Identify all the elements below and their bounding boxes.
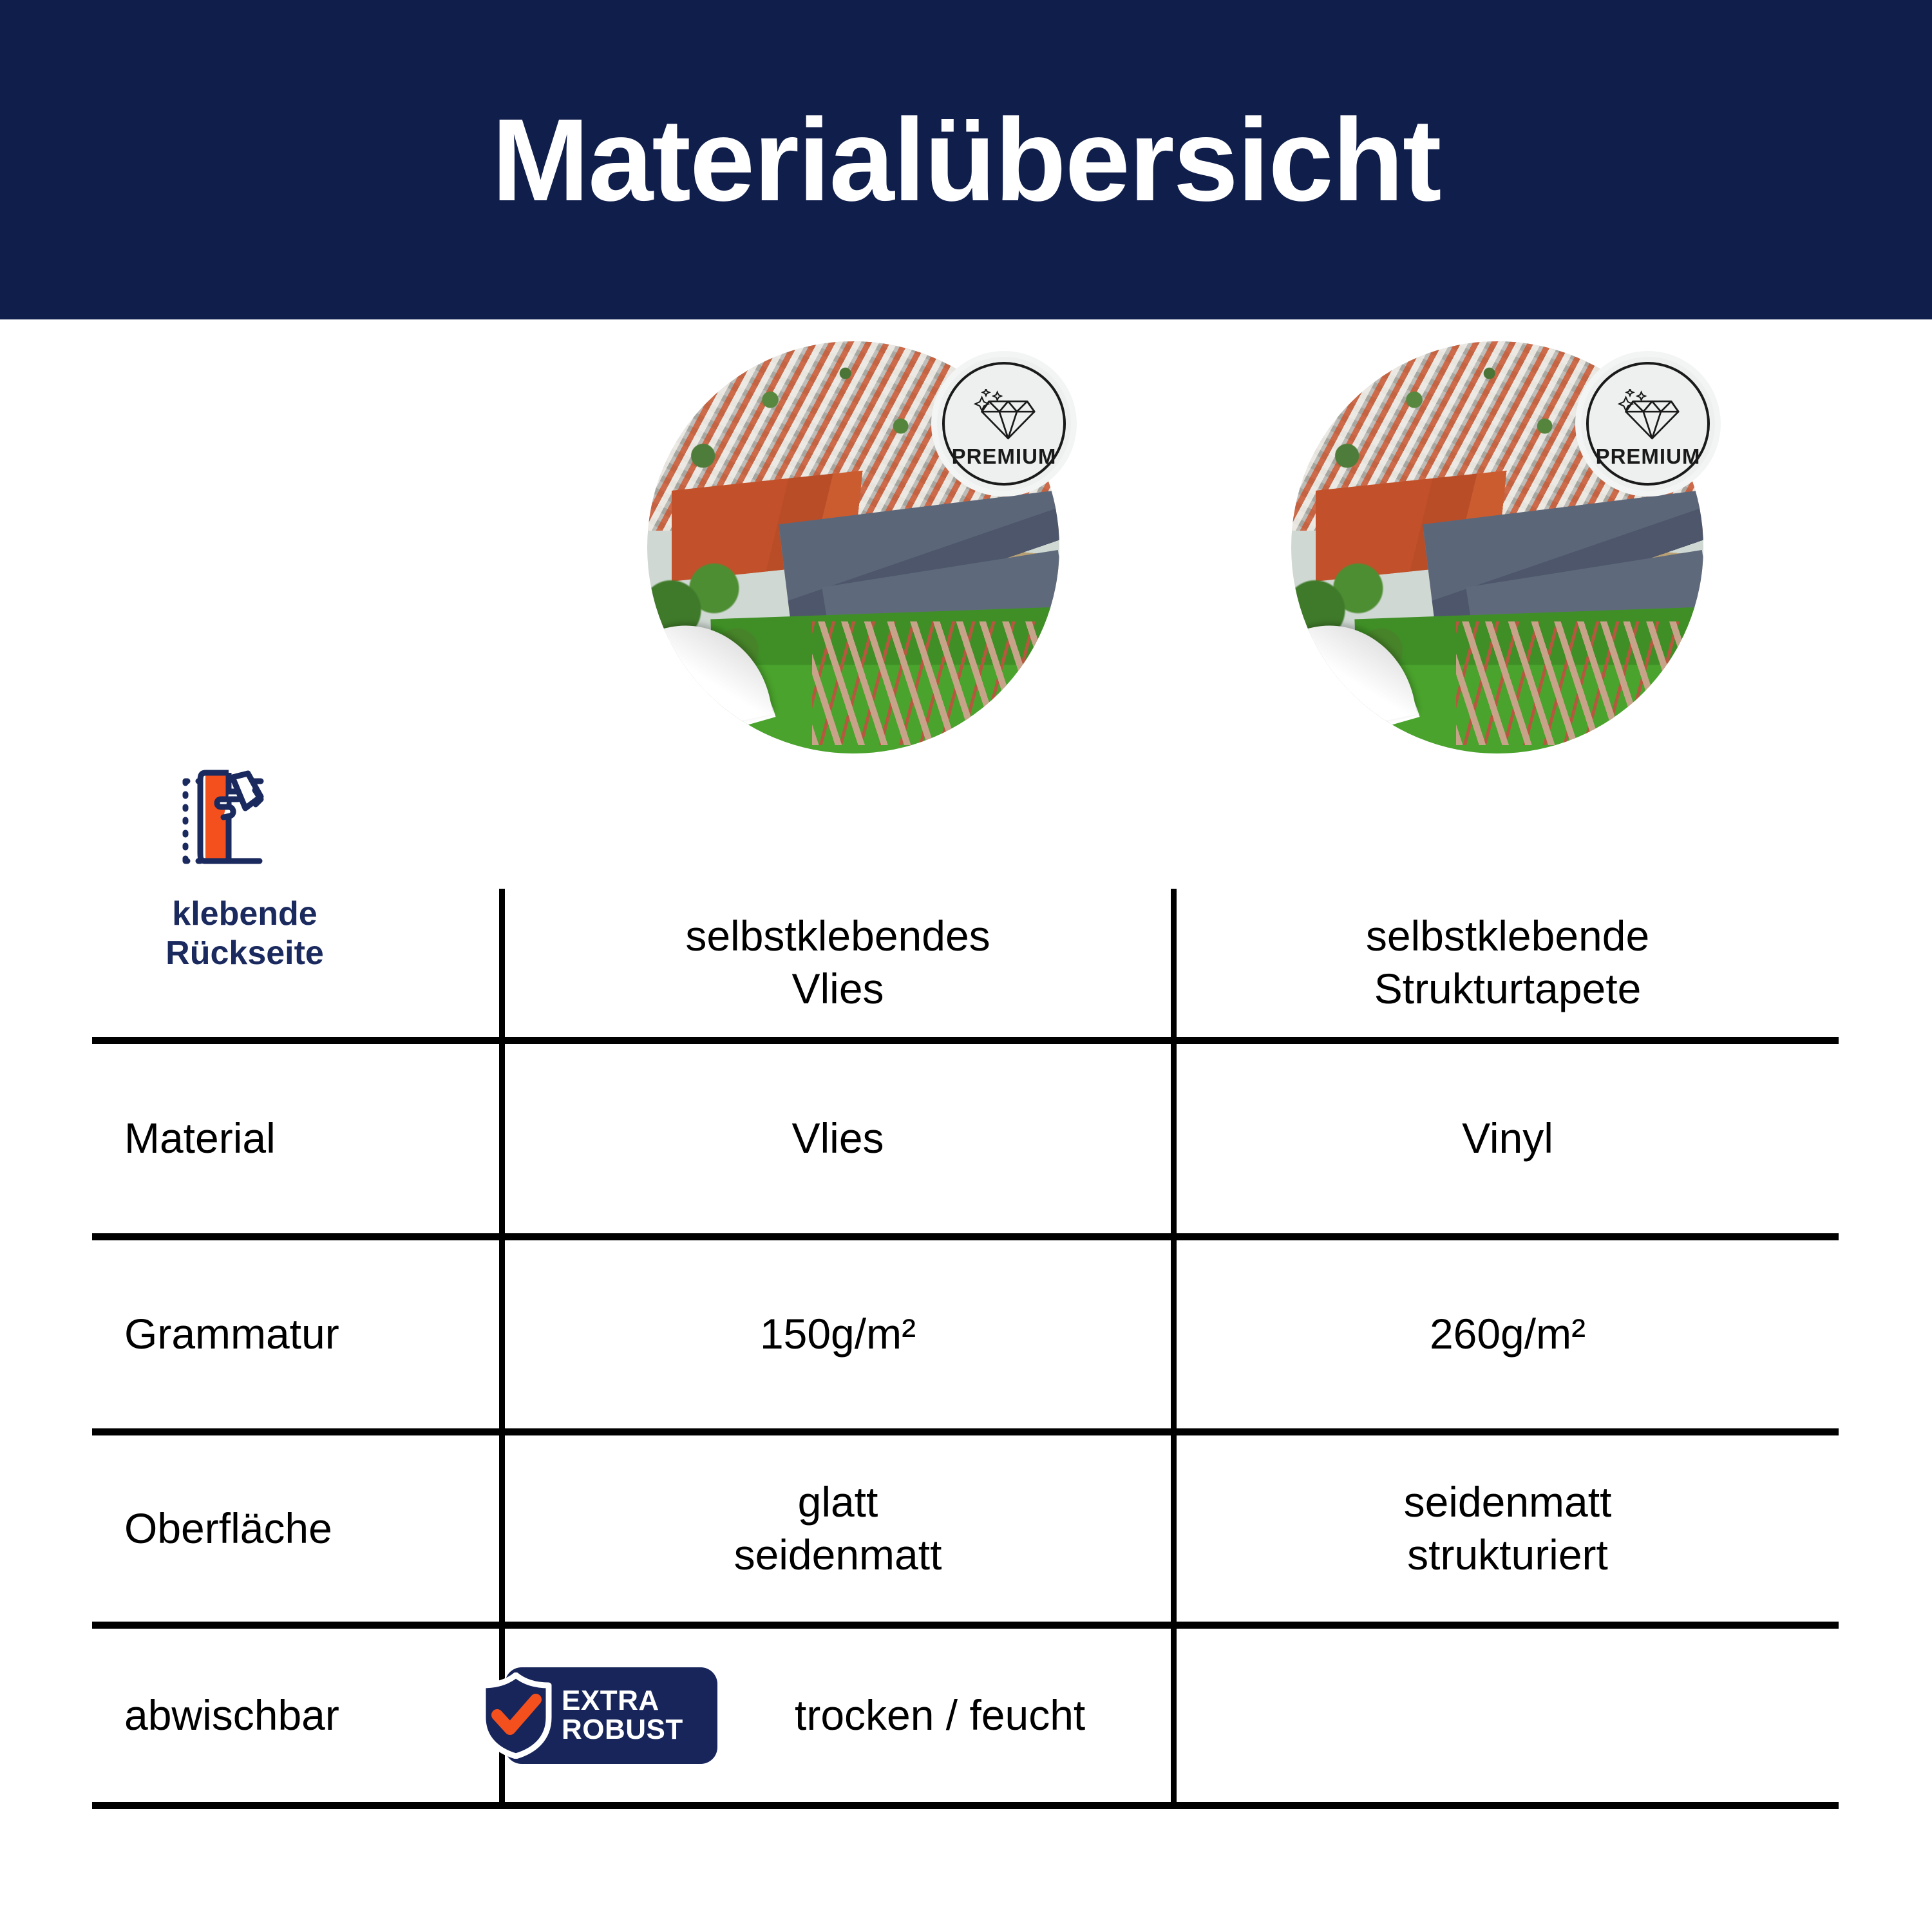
table-cell-oberflaeche-col2: seidenmatt strukturiert bbox=[1177, 1435, 1839, 1622]
material-comparison-table: selbstklebendes Vlies selbstklebende Str… bbox=[92, 889, 1839, 1803]
material-overview-page: Materialübersicht bbox=[0, 0, 1932, 1932]
peeling-adhesive-backing-icon bbox=[164, 763, 325, 882]
table-cell-grammatur-col2: 260g/m² bbox=[1177, 1240, 1839, 1428]
extra-robust-line1: EXTRA bbox=[562, 1687, 683, 1716]
badge-ring bbox=[942, 362, 1066, 486]
table-vertical-divider-1 bbox=[499, 889, 505, 1803]
table-header-col1-line2: Vlies bbox=[685, 963, 990, 1016]
table-row-divider-5 bbox=[92, 1802, 1839, 1809]
table-header-col2: selbstklebende Strukturtapete bbox=[1177, 889, 1839, 1037]
table-cell-abwischbar-value: EXTRA ROBUST trocken / feucht bbox=[505, 1629, 1839, 1802]
premium-badge-left: PREMIUM bbox=[937, 357, 1071, 491]
page-title: Materialübersicht bbox=[491, 101, 1440, 218]
table-cell-oberflaeche-col1: glatt seidenmatt bbox=[505, 1435, 1171, 1622]
table-header-col1: selbstklebendes Vlies bbox=[505, 889, 1171, 1037]
extra-robust-line2: ROBUST bbox=[562, 1716, 683, 1745]
premium-badge-right: PREMIUM bbox=[1581, 357, 1715, 491]
product-preview-right[interactable]: PREMIUM bbox=[1291, 341, 1703, 753]
table-cell-material-col2: Vinyl bbox=[1177, 1044, 1839, 1233]
table-header-col2-line1: selbstklebende bbox=[1366, 910, 1649, 963]
extra-robust-badge: EXTRA ROBUST bbox=[505, 1667, 717, 1764]
oberflaeche-col2-line2: strukturiert bbox=[1404, 1529, 1612, 1582]
table-row-divider-2 bbox=[92, 1233, 1839, 1240]
table-cell-material-col1: Vlies bbox=[505, 1044, 1171, 1233]
table-header-col2-line2: Strukturtapete bbox=[1366, 963, 1649, 1016]
oberflaeche-col1-line2: seidenmatt bbox=[734, 1529, 942, 1582]
oberflaeche-col2-line1: seidenmatt bbox=[1404, 1476, 1612, 1529]
table-row-label-grammatur: Grammatur bbox=[92, 1240, 499, 1428]
table-row-divider-1 bbox=[92, 1037, 1839, 1044]
table-row-divider-3 bbox=[92, 1428, 1839, 1435]
table-row-label-oberflaeche: Oberfläche bbox=[92, 1435, 499, 1622]
table-header-col1-line1: selbstklebendes bbox=[685, 910, 990, 963]
photo-garden-paths bbox=[812, 621, 1051, 745]
abwischbar-value-text: trocken / feucht bbox=[795, 1689, 1085, 1742]
badge-ring bbox=[1586, 362, 1710, 486]
product-preview-left[interactable]: PREMIUM bbox=[647, 341, 1059, 753]
table-cell-grammatur-col1: 150g/m² bbox=[505, 1240, 1171, 1428]
extra-robust-label: EXTRA ROBUST bbox=[562, 1687, 683, 1745]
product-previews: PREMIUM bbox=[0, 341, 1932, 779]
oberflaeche-col1-line1: glatt bbox=[734, 1476, 942, 1529]
page-header: Materialübersicht bbox=[0, 0, 1932, 319]
table-row-label-abwischbar: abwischbar bbox=[92, 1629, 499, 1802]
photo-garden-paths bbox=[1456, 621, 1695, 745]
shield-check-icon bbox=[478, 1672, 554, 1759]
table-row-label-material: Material bbox=[92, 1044, 499, 1233]
table-row-divider-4 bbox=[92, 1622, 1839, 1629]
